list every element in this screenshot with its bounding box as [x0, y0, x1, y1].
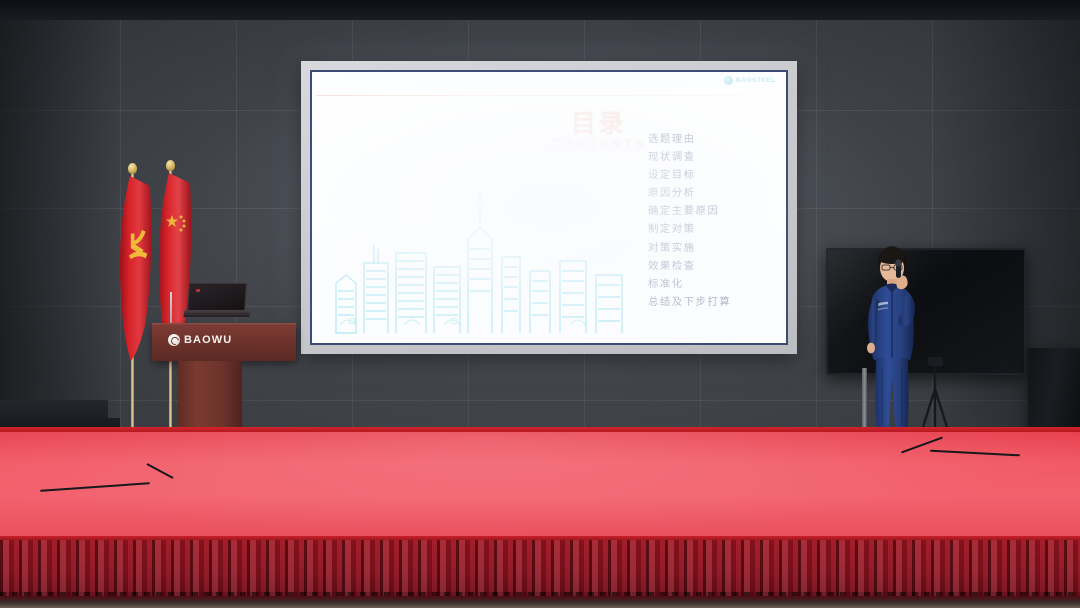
toc-item: 原因分析 [648, 184, 731, 199]
slide-title-en: CONTENTS [550, 138, 648, 151]
toc-item: 制定对策 [648, 220, 731, 235]
slide-logo: BAOSTEEL [724, 76, 776, 85]
toc-item: 确定主要原因 [648, 202, 731, 217]
toc-item: 总结及下步打算 [648, 293, 731, 308]
laptop-screen [187, 283, 247, 313]
slide-logo-text: BAOSTEEL [736, 77, 776, 84]
slide-accent-rule [316, 95, 781, 96]
slide-canvas: BAOSTEEL [312, 72, 786, 343]
slide-title-cn: 目录 [550, 112, 648, 137]
stage-floor-sheen [0, 432, 1080, 540]
stage-skirt-pleats [0, 540, 1080, 600]
laptop-keyboard-base [183, 310, 250, 317]
screen-bezel: BAOSTEEL [310, 70, 788, 345]
toc-item: 效果检查 [648, 257, 731, 272]
swirl-logo-icon [724, 76, 733, 85]
slide-toc-list: 选题理由 现状调查 设定目标 原因分析 确定主要原因 制定对策 对策实施 效果检… [648, 130, 731, 308]
podium-brand: BAOWU [168, 334, 232, 346]
flag-finial [166, 160, 175, 171]
toc-item: 现状调查 [648, 148, 731, 163]
toc-item: 标准化 [648, 275, 731, 290]
laptop-logo-icon [196, 289, 200, 292]
flag-finial [128, 163, 137, 174]
toc-item: 选题理由 [648, 130, 731, 145]
presentation-hall-scene: BAOSTEEL [0, 0, 1080, 608]
slide-header-band [312, 72, 786, 95]
podium-brand-text: BAOWU [184, 334, 232, 346]
party-flag [112, 176, 154, 361]
stage-skirt [0, 540, 1080, 600]
slide-title-block: 目录 CONTENTS [550, 112, 648, 151]
projection-screen: BAOSTEEL [301, 61, 797, 354]
city-skyline-icon [334, 175, 634, 335]
toc-item: 设定目标 [648, 166, 731, 181]
floor-strip [0, 596, 1080, 608]
toc-item: 对策实施 [648, 239, 731, 254]
ceiling [0, 0, 1080, 22]
baowu-circle-logo-icon [168, 334, 180, 346]
